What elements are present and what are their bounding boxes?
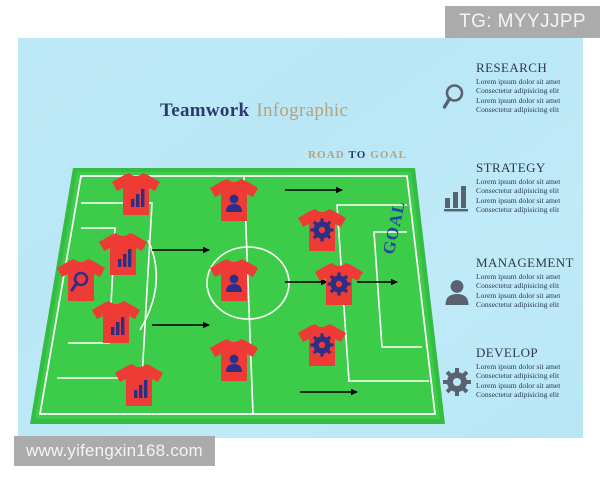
legend-heading: STRATEGY: [476, 160, 590, 175]
road-word-to: TO: [348, 149, 366, 161]
legend-line: Consectetur adipisicing elit: [476, 186, 590, 195]
legend-line: Consectetur adipisicing elit: [476, 105, 590, 114]
legend-line: Lorem ipsum dolor sit amet: [476, 177, 590, 186]
legend-body: Lorem ipsum dolor sit amet Consectetur a…: [476, 272, 590, 309]
player-jersey-develop[interactable]: [296, 208, 348, 254]
legend-line: Consectetur adipisicing elit: [476, 86, 590, 95]
legend-line: Consectetur adipisicing elit: [476, 205, 590, 214]
legend-line: Lorem ipsum dolor sit amet: [476, 196, 590, 205]
legend-line: Lorem ipsum dolor sit amet: [476, 381, 590, 390]
page-title: TeamworkInfographic: [160, 100, 348, 122]
legend-line: Lorem ipsum dolor sit amet: [476, 96, 590, 105]
road-to-goal-label: ROAD TO GOAL: [308, 149, 407, 161]
player-jersey-strategy[interactable]: [97, 232, 149, 278]
legend-item-research[interactable]: RESEARCH Lorem ipsum dolor sit amet Cons…: [440, 60, 590, 114]
legend-line: Consectetur adipisicing elit: [476, 281, 590, 290]
legend-line: Consectetur adipisicing elit: [476, 390, 590, 399]
legend-line: Consectetur adipisicing elit: [476, 371, 590, 380]
legend-line: Lorem ipsum dolor sit amet: [476, 291, 590, 300]
legend-item-develop[interactable]: DEVELOP Lorem ipsum dolor sit amet Conse…: [440, 345, 590, 399]
legend-heading: DEVELOP: [476, 345, 590, 360]
person-icon: [442, 277, 472, 307]
player-jersey-management[interactable]: [208, 258, 260, 304]
title-primary: Teamwork: [160, 100, 249, 121]
magnifier-icon: [442, 82, 472, 112]
player-jersey-management[interactable]: [208, 338, 260, 384]
legend-body: Lorem ipsum dolor sit amet Consectetur a…: [476, 77, 590, 114]
legend-line: Lorem ipsum dolor sit amet: [476, 272, 590, 281]
title-secondary: Infographic: [256, 100, 348, 121]
road-word-road: ROAD: [308, 149, 345, 161]
player-jersey-develop[interactable]: [313, 262, 365, 308]
player-jersey-strategy[interactable]: [113, 363, 165, 409]
player-jersey-strategy[interactable]: [110, 172, 162, 218]
website-watermark: www.yifengxin168.com: [14, 436, 215, 466]
legend-line: Lorem ipsum dolor sit amet: [476, 77, 590, 86]
legend-body: Lorem ipsum dolor sit amet Consectetur a…: [476, 362, 590, 399]
legend-line: Lorem ipsum dolor sit amet: [476, 362, 590, 371]
legend-item-management[interactable]: MANAGEMENT Lorem ipsum dolor sit amet Co…: [440, 255, 590, 309]
legend-heading: MANAGEMENT: [476, 255, 590, 270]
player-jersey-strategy[interactable]: [90, 300, 142, 346]
legend-item-strategy[interactable]: STRATEGY Lorem ipsum dolor sit amet Cons…: [440, 160, 590, 214]
gear-icon: [442, 367, 472, 397]
road-word-goal: GOAL: [370, 149, 407, 161]
player-jersey-develop[interactable]: [296, 323, 348, 369]
legend-line: Consectetur adipisicing elit: [476, 300, 590, 309]
player-jersey-management[interactable]: [208, 178, 260, 224]
bar-chart-icon: [442, 182, 472, 212]
telegram-watermark: TG: MYYJJPP: [445, 6, 600, 38]
infographic-root: GOAL: [0, 0, 600, 480]
legend-heading: RESEARCH: [476, 60, 590, 75]
legend-body: Lorem ipsum dolor sit amet Consectetur a…: [476, 177, 590, 214]
